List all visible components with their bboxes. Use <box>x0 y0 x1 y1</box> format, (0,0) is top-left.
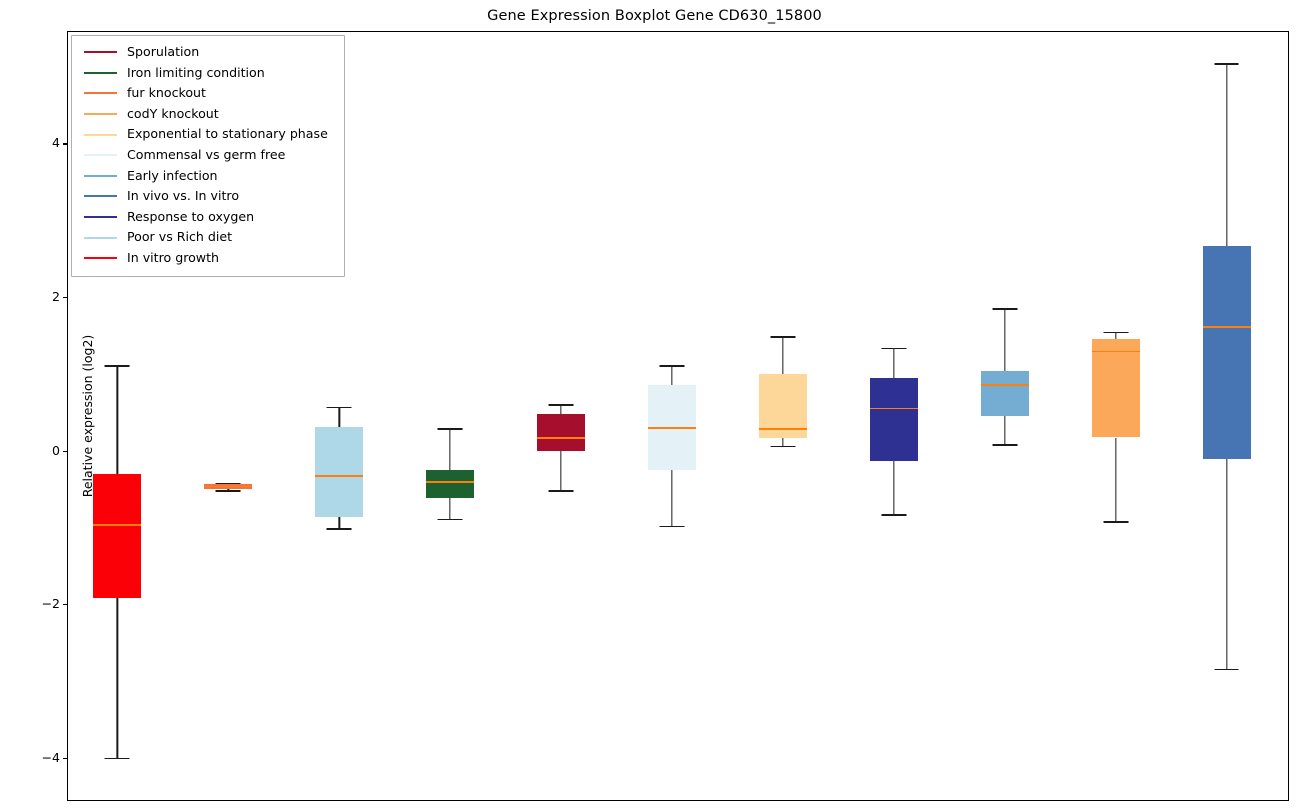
median-line <box>648 427 696 429</box>
median-line <box>1092 351 1140 353</box>
median-line <box>1203 326 1251 328</box>
boxplot-figure: Gene Expression Boxplot Gene CD630_15800… <box>0 0 1309 812</box>
whisker-upper <box>1226 63 1227 246</box>
median-line <box>426 481 474 483</box>
legend-item-6[interactable]: Early infection <box>81 166 335 187</box>
legend-color-swatch <box>84 237 117 239</box>
legend-item-5[interactable]: Commensal vs germ free <box>81 145 335 166</box>
whisker-cap-lower <box>881 514 906 516</box>
whisker-lower <box>560 451 561 490</box>
median-line <box>981 384 1029 386</box>
box-iqr[interactable] <box>537 414 585 451</box>
whisker-cap-lower <box>549 490 574 492</box>
legend-label: codY knockout <box>127 108 219 121</box>
whisker-lower <box>782 438 783 446</box>
whisker-lower <box>671 470 672 526</box>
legend-color-swatch <box>84 154 117 156</box>
whisker-cap-upper <box>992 308 1017 310</box>
whisker-cap-upper <box>1214 63 1239 65</box>
whisker-cap-upper <box>327 407 352 409</box>
whisker-lower <box>1226 459 1227 669</box>
whisker-cap-upper <box>438 428 463 430</box>
whisker-upper <box>1004 308 1005 371</box>
whisker-cap-upper <box>1103 332 1128 334</box>
box-iqr[interactable] <box>1203 246 1251 459</box>
whisker-cap-lower <box>660 526 685 528</box>
legend-item-1[interactable]: Iron limiting condition <box>81 63 335 84</box>
whisker-cap-lower <box>1214 669 1239 671</box>
whisker-cap-lower <box>216 490 241 492</box>
whisker-upper <box>450 428 451 469</box>
chart-legend: SporulationIron limiting conditionfur kn… <box>71 35 345 277</box>
legend-item-3[interactable]: codY knockout <box>81 104 335 125</box>
whisker-upper <box>782 336 783 374</box>
whisker-cap-upper <box>105 365 130 367</box>
box-iqr[interactable] <box>870 378 918 461</box>
legend-label: Iron limiting condition <box>127 67 265 80</box>
whisker-cap-lower <box>1103 521 1128 523</box>
whisker-upper <box>117 365 118 473</box>
legend-item-10[interactable]: In vitro growth <box>81 248 335 269</box>
box-iqr[interactable] <box>315 427 363 517</box>
legend-item-4[interactable]: Exponential to stationary phase <box>81 124 335 145</box>
legend-label: In vitro growth <box>127 252 219 265</box>
page-title: Gene Expression Boxplot Gene CD630_15800 <box>0 8 1309 24</box>
legend-color-swatch <box>84 113 117 115</box>
y-tick-label: −2 <box>42 598 60 611</box>
whisker-upper <box>893 348 894 378</box>
y-tick-label: −4 <box>42 752 60 765</box>
median-line <box>93 524 141 526</box>
box-iqr[interactable] <box>426 470 474 498</box>
y-tick-label: 2 <box>52 291 60 304</box>
legend-color-swatch <box>84 257 117 259</box>
legend-label: Sporulation <box>127 46 199 59</box>
legend-color-swatch <box>84 72 117 74</box>
legend-item-9[interactable]: Poor vs Rich diet <box>81 227 335 248</box>
y-tick-label: 4 <box>52 137 60 150</box>
median-line <box>870 408 918 410</box>
whisker-cap-lower <box>327 528 352 530</box>
whisker-cap-upper <box>660 365 685 367</box>
median-line <box>315 475 363 477</box>
legend-color-swatch <box>84 175 117 177</box>
y-tick-label: 0 <box>52 444 60 457</box>
legend-label: In vivo vs. In vitro <box>127 190 239 203</box>
whisker-upper <box>671 365 672 385</box>
legend-color-swatch <box>84 216 117 218</box>
whisker-cap-lower <box>992 444 1017 446</box>
whisker-cap-upper <box>549 404 574 406</box>
whisker-lower <box>1004 416 1005 444</box>
box-iqr[interactable] <box>93 474 141 598</box>
whisker-lower <box>1115 438 1116 522</box>
legend-label: Early infection <box>127 170 218 183</box>
legend-label: Poor vs Rich diet <box>127 231 232 244</box>
legend-color-swatch <box>84 195 117 197</box>
legend-color-swatch <box>84 51 117 53</box>
whisker-upper <box>339 407 340 427</box>
whisker-lower <box>893 461 894 515</box>
legend-label: Commensal vs germ free <box>127 149 285 162</box>
legend-item-2[interactable]: fur knockout <box>81 83 335 104</box>
legend-color-swatch <box>84 134 117 136</box>
whisker-lower <box>117 598 118 758</box>
legend-item-0[interactable]: Sporulation <box>81 42 335 63</box>
whisker-cap-upper <box>881 348 906 350</box>
whisker-lower <box>450 498 451 519</box>
legend-label: Exponential to stationary phase <box>127 128 328 141</box>
median-line <box>759 428 807 430</box>
whisker-lower <box>339 517 340 529</box>
y-axis-label-wrap: Relative expression (log2) <box>0 31 26 801</box>
legend-item-8[interactable]: Response to oxygen <box>81 207 335 228</box>
whisker-cap-lower <box>438 519 463 521</box>
whisker-cap-lower <box>105 758 130 760</box>
box-iqr[interactable] <box>1092 339 1140 437</box>
legend-item-7[interactable]: In vivo vs. In vitro <box>81 186 335 207</box>
median-line <box>204 486 252 488</box>
whisker-cap-lower <box>770 446 795 448</box>
legend-label: Response to oxygen <box>127 211 254 224</box>
median-line <box>537 437 585 439</box>
legend-label: fur knockout <box>127 87 206 100</box>
whisker-cap-upper <box>770 336 795 338</box>
legend-color-swatch <box>84 92 117 94</box>
box-iqr[interactable] <box>981 371 1029 416</box>
